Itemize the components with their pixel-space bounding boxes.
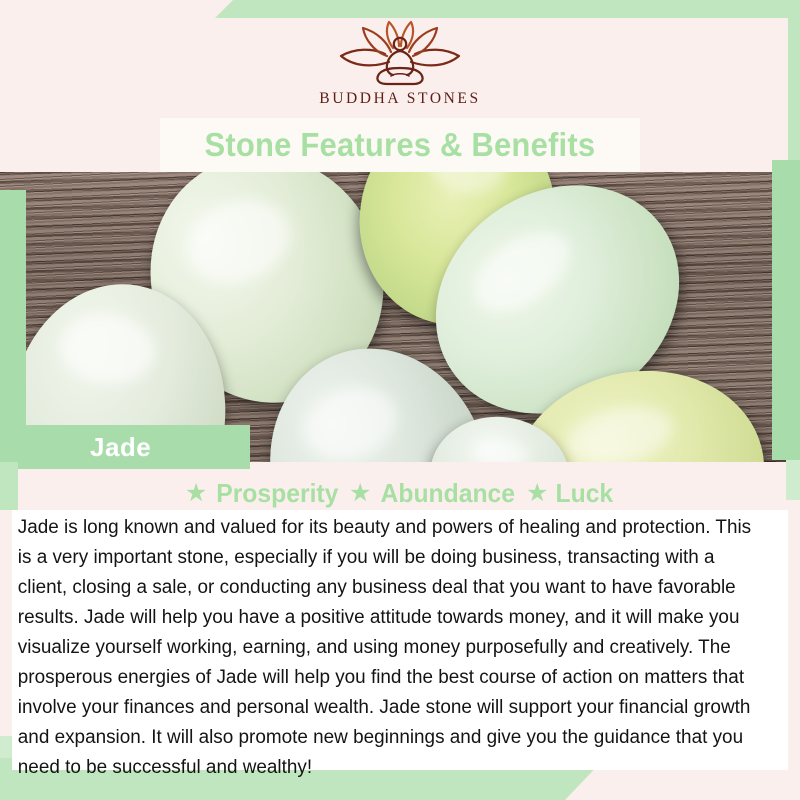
- brand-logo: BUDDHA STONES: [0, 18, 800, 118]
- keyword-prosperity: ★ Prosperity: [185, 478, 342, 509]
- stone-name-bar: Jade: [18, 425, 250, 469]
- description-card: Jade is long known and valued for its be…: [12, 510, 788, 770]
- keyword-label: Abundance: [381, 478, 515, 509]
- keyword-luck: ★ Luck: [526, 478, 615, 509]
- stone-info-poster: BUDDHA STONES Stone Features & Benefits …: [0, 0, 800, 800]
- title-banner: Stone Features & Benefits: [160, 118, 640, 172]
- star-icon: ★: [349, 481, 371, 506]
- lotus-meditation-icon: [331, 18, 469, 86]
- keyword-label: Prosperity: [217, 478, 339, 509]
- star-icon: ★: [185, 481, 207, 506]
- keyword-abundance: ★ Abundance: [349, 478, 519, 509]
- star-icon: ★: [526, 481, 548, 506]
- stone-photo: [0, 172, 800, 462]
- keyword-row: ★ Prosperity ★ Abundance ★ Luck: [0, 478, 800, 509]
- brand-name: BUDDHA STONES: [319, 90, 480, 108]
- decor-top-green-band: [215, 0, 800, 18]
- keyword-label: Luck: [556, 478, 614, 509]
- stone-name: Jade: [90, 432, 151, 463]
- description-text: Jade is long known and valued for its be…: [12, 510, 761, 782]
- page-title: Stone Features & Benefits: [205, 126, 596, 164]
- decor-right-green-bar: [772, 160, 800, 460]
- decor-left-green-bar: [0, 190, 26, 462]
